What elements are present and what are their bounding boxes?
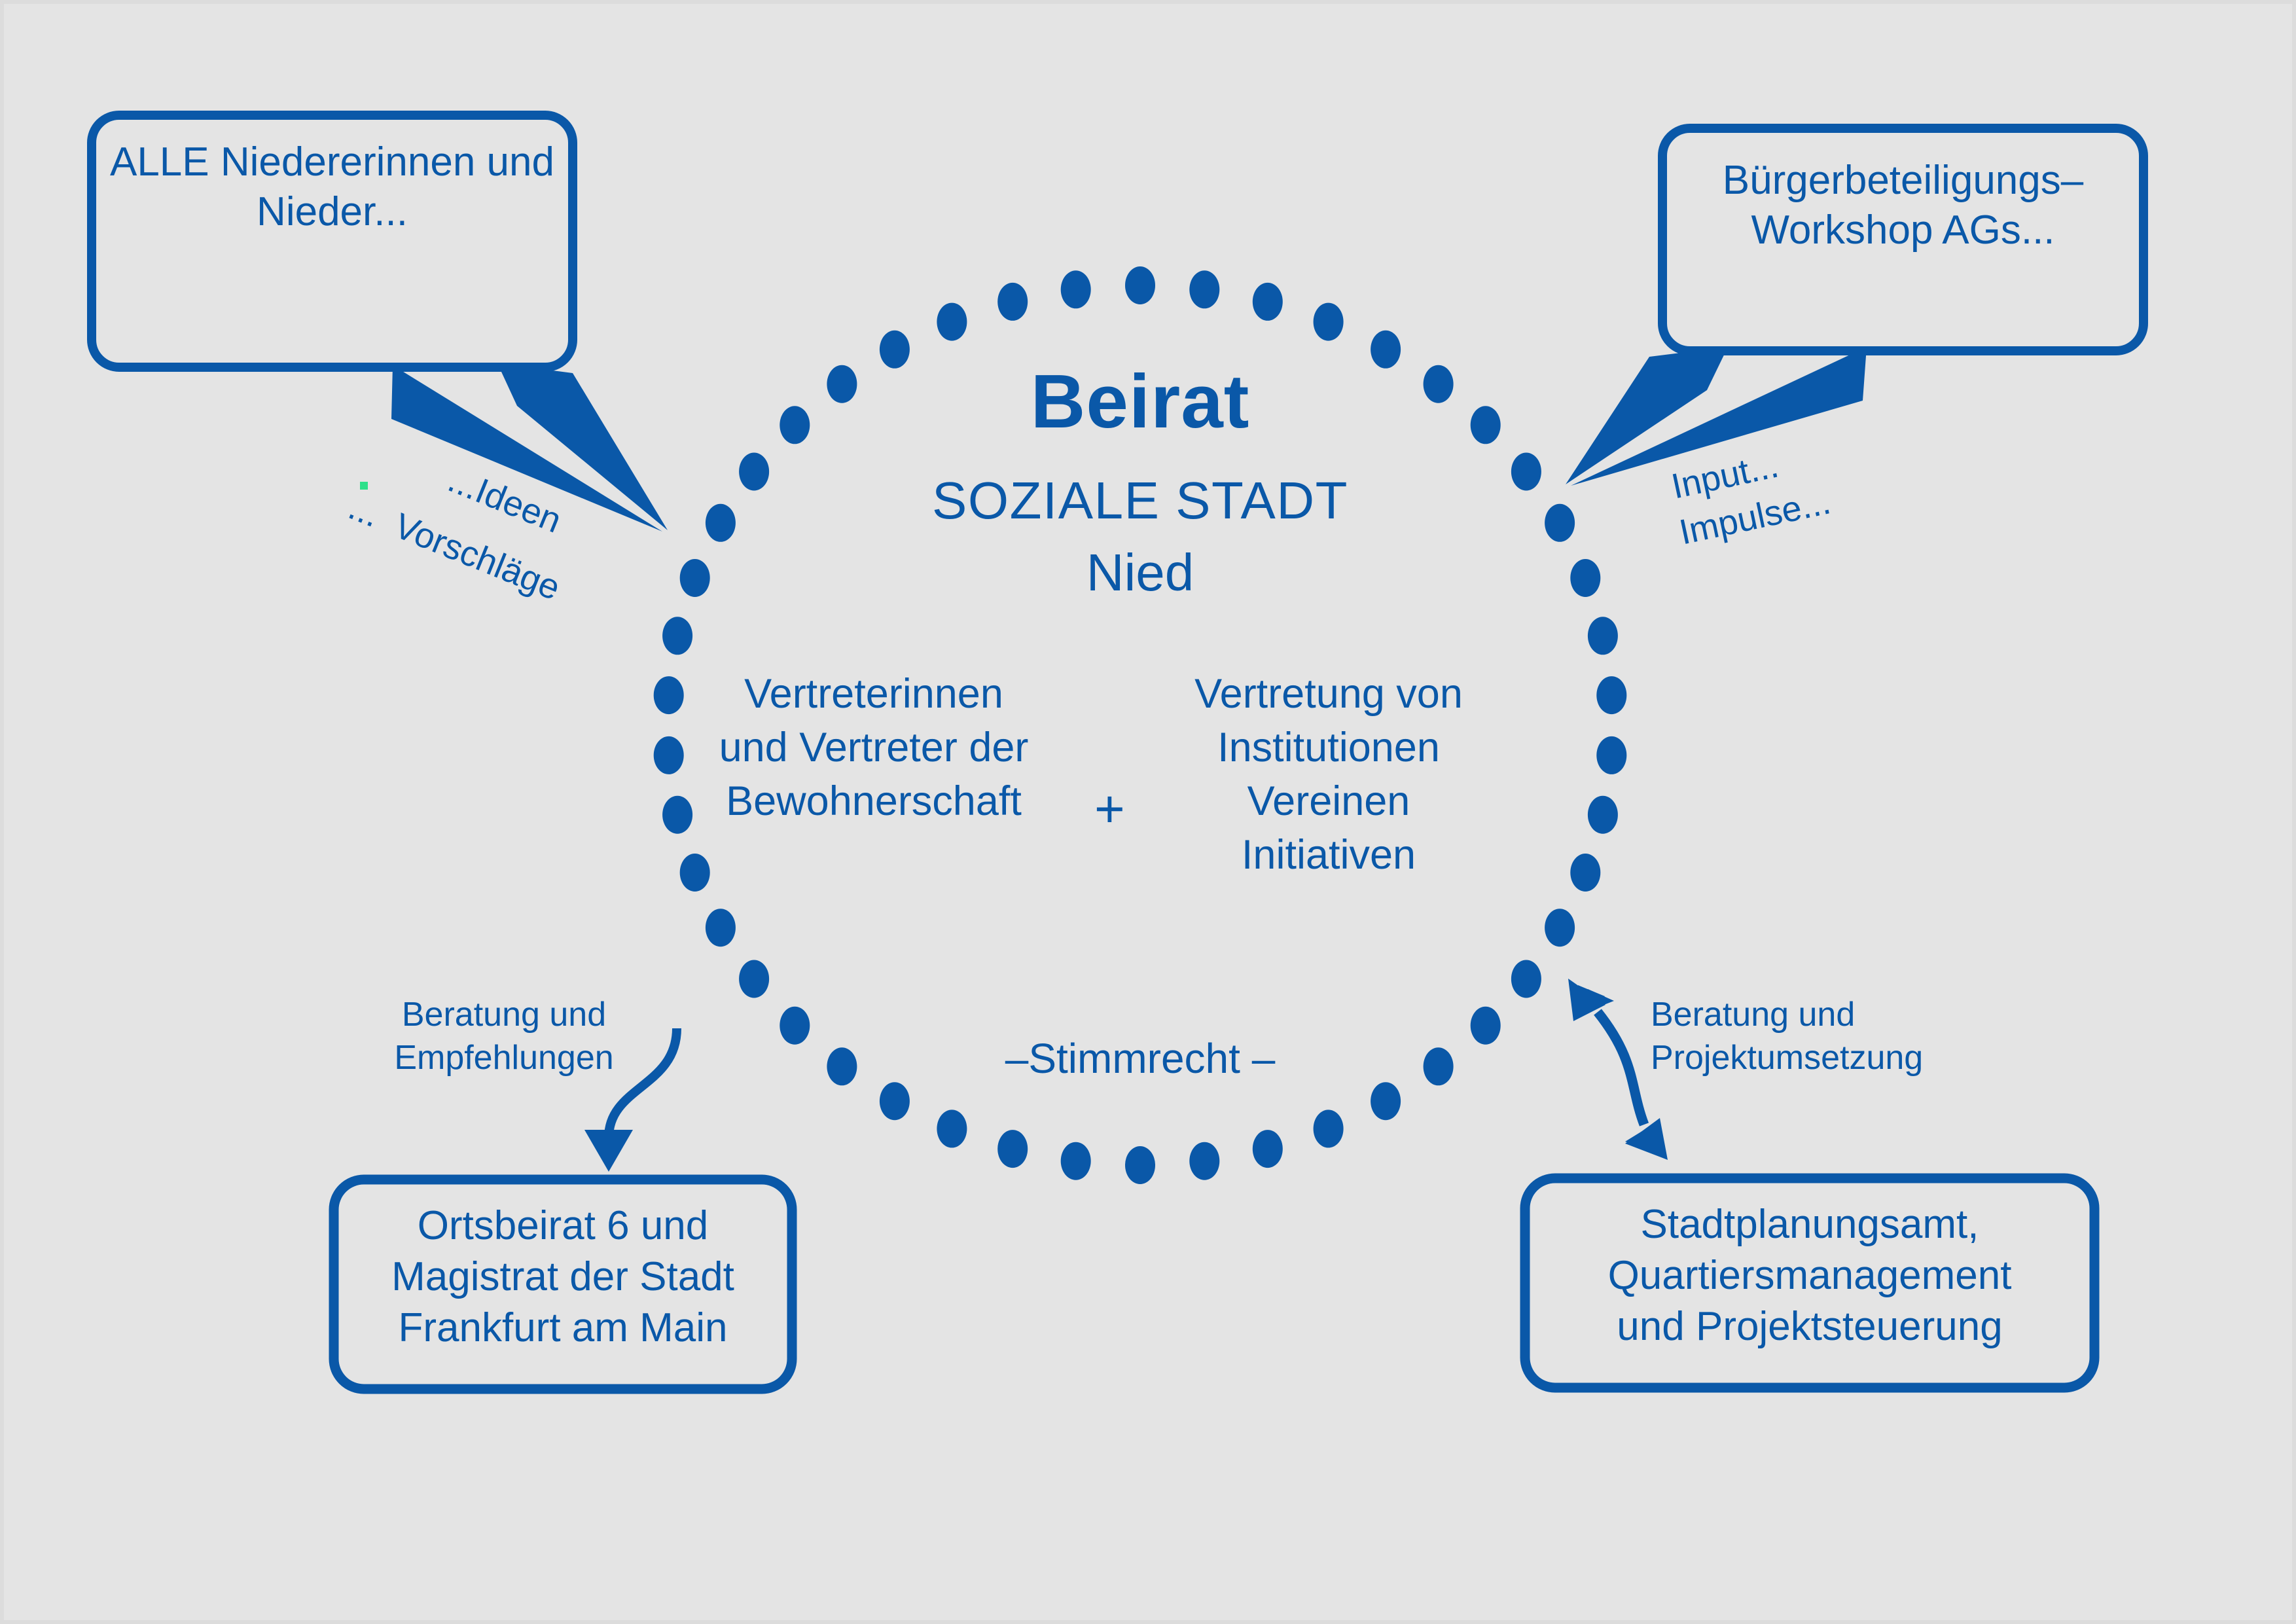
circle-dot [1189, 1142, 1219, 1180]
circle-dot [1471, 406, 1501, 444]
circle-dot [654, 676, 684, 714]
circle-dot [680, 854, 710, 892]
circle-dot [1511, 960, 1541, 998]
circle-dot [1314, 303, 1344, 341]
column-institutionen: Vertretung von Institutionen Vereinen In… [1165, 668, 1492, 882]
bubble-top-left-text: ALLE Niedererinnen und Nieder... [92, 137, 573, 236]
circle-dot [680, 559, 710, 597]
circle-dot [1545, 504, 1575, 542]
circle-dot [1424, 1047, 1454, 1085]
page-place: Nied [813, 542, 1467, 604]
circle-dot [1253, 1130, 1283, 1168]
circle-dot [880, 1082, 910, 1120]
circle-dot [662, 796, 692, 834]
page-title: Beirat [813, 357, 1467, 446]
circle-dot [1588, 796, 1618, 834]
circle-dot [662, 617, 692, 655]
circle-dot [937, 1110, 967, 1147]
page-subtitle: SOZIALE STADT [813, 470, 1467, 532]
column-bewohnerschaft: Vertreterinnen und Vertreter der Bewohne… [710, 668, 1037, 829]
circle-dot [937, 303, 967, 341]
caption-beratung-projektumsetzung: Beratung und Projektumsetzung [1651, 994, 2017, 1079]
box-stadtplanungsamt-text: Stadtplanungsamt, Quartiersmanagement un… [1525, 1199, 2094, 1352]
circle-dot [827, 1047, 857, 1085]
circle-dot [1511, 453, 1541, 491]
plus-operator: + [1094, 779, 1125, 839]
circle-dot [706, 909, 736, 947]
circle-dot [1061, 270, 1091, 308]
circle-dot [780, 406, 810, 444]
stimmrecht-note: –Stimmrecht – [911, 1034, 1369, 1083]
circle-dot [739, 453, 769, 491]
circle-dot [1253, 283, 1283, 321]
circle-dot [1596, 676, 1626, 714]
circle-dot [1125, 1146, 1155, 1184]
box-ortsbeirat-text: Ortsbeirat 6 und Magistrat der Stadt Fra… [334, 1200, 792, 1354]
circle-dot [654, 736, 684, 774]
circle-dot [1189, 270, 1219, 308]
circle-dot [1570, 854, 1600, 892]
circle-dot [739, 960, 769, 998]
circle-dot [997, 1130, 1028, 1168]
circle-dot [997, 283, 1028, 321]
circle-dot [1061, 1142, 1091, 1180]
circle-dot [1596, 736, 1626, 774]
circle-dot [1570, 559, 1600, 597]
bubble-top-right-text: Bürgerbeteiligungs– Workshop AGs... [1662, 156, 2144, 255]
circle-dot [780, 1007, 810, 1045]
caption-beratung-empfehlungen: Beratung und Empfehlungen [373, 994, 635, 1079]
circle-dot [1125, 266, 1155, 304]
circle-dot [1471, 1007, 1501, 1045]
circle-dot [1314, 1110, 1344, 1147]
circle-dot [706, 504, 736, 542]
circle-dot [1588, 617, 1618, 655]
circle-dot [1371, 1082, 1401, 1120]
circle-dot [1545, 909, 1575, 947]
